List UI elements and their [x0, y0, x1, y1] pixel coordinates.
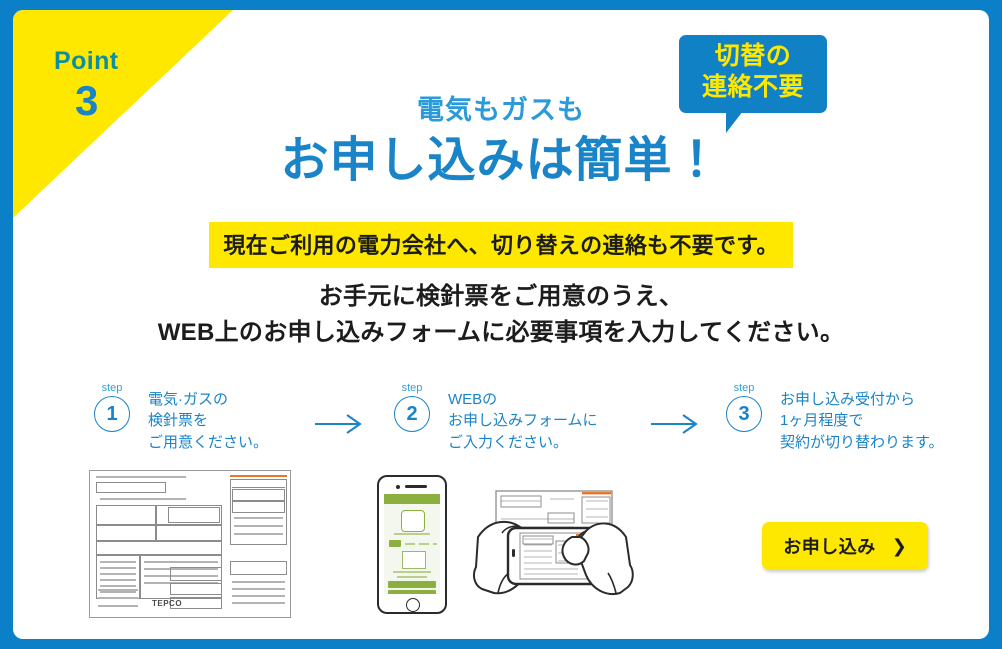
phone-speaker: [405, 485, 427, 488]
step-3-line-3: 契約が切り替わります。: [780, 432, 944, 453]
step-1-line-3: ご用意ください。: [148, 432, 268, 453]
point-label: Point: [54, 49, 119, 74]
step-1-line-2: 検針票を: [148, 410, 268, 431]
chevron-right-icon: ❯: [892, 536, 907, 557]
arrow-right-icon: [649, 414, 701, 434]
highlight-text: 現在ご利用の電力会社へ、切り替えの連絡も不要です。: [209, 222, 792, 268]
status-badge: 切替の 連絡不要: [679, 35, 827, 113]
arrow-right-icon: [313, 414, 365, 434]
step-3-line-1: お申し込み受付から: [780, 389, 944, 410]
step-2-word: step: [389, 383, 435, 394]
step-2-number: 2: [394, 396, 430, 432]
phone-app-logo: [401, 510, 425, 532]
step-1-marker: step 1: [89, 383, 135, 432]
step-2-line-3: ご入力ください。: [448, 432, 598, 453]
bill-brand-logo: TEPCO: [152, 599, 182, 608]
step-1-number: 1: [94, 396, 130, 432]
badge-tail: [726, 111, 743, 133]
hands-holding-phone-over-bill: [468, 475, 636, 620]
step-2-marker: step 2: [389, 383, 435, 432]
phone-camera-icon: [396, 485, 400, 489]
step-1-text: 電気·ガスの 検針票を ご用意ください。: [148, 389, 268, 453]
apply-button-label: お申し込み: [783, 533, 876, 559]
smartphone-illustration: [377, 475, 447, 614]
outer-blue-frame: Point 3 電気もガスも お申し込みは簡単！ 切替の 連絡不要 現在ご利用の…: [0, 0, 1002, 649]
electricity-meter-reading-slip: TEPCO: [89, 470, 291, 618]
bill-orange-accent: [230, 475, 287, 477]
page-title: お申し込みは簡単！: [13, 120, 989, 190]
step-2-line-1: WEBの: [448, 389, 598, 410]
step-2-line-2: お申し込みフォームに: [448, 410, 598, 431]
content-card: Point 3 電気もガスも お申し込みは簡単！ 切替の 連絡不要 現在ご利用の…: [13, 10, 989, 639]
phone-screen: [384, 494, 440, 594]
badge-line-1: 切替の: [679, 43, 827, 70]
step-3-number: 3: [726, 396, 762, 432]
step-3-line-2: 1ヶ月程度で: [780, 410, 944, 431]
phone-home-button: [406, 598, 420, 612]
phone-app-header: [384, 494, 440, 504]
step-1-word: step: [89, 383, 135, 394]
step-1-line-1: 電気·ガスの: [148, 389, 268, 410]
lead-line-2: WEB上のお申し込みフォームに必要事項を入力してください。: [13, 312, 989, 347]
step-3-text: お申し込み受付から 1ヶ月程度で 契約が切り替わります。: [780, 389, 944, 453]
lead-line-1: お手元に検針票をご用意のうえ、: [13, 276, 989, 311]
step-2-text: WEBの お申し込みフォームに ご入力ください。: [448, 389, 598, 453]
badge-line-2: 連絡不要: [679, 74, 827, 101]
step-3-word: step: [721, 383, 767, 394]
highlight-row: 現在ご利用の電力会社へ、切り替えの連絡も不要です。: [13, 222, 989, 268]
step-3-marker: step 3: [721, 383, 767, 432]
apply-button[interactable]: お申し込み ❯: [762, 522, 928, 570]
